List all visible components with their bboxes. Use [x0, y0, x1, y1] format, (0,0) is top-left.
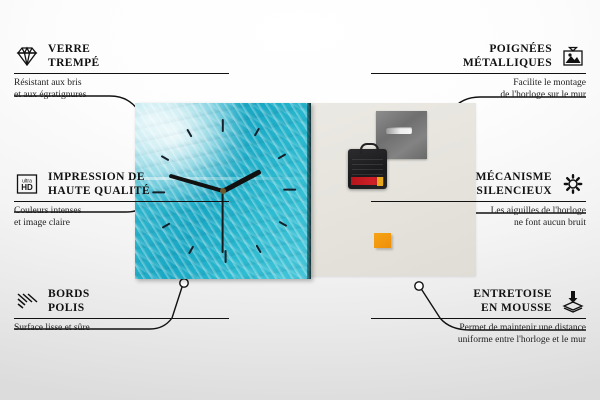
- svg-text:HD: HD: [21, 183, 33, 192]
- foam-spacer: [374, 233, 391, 248]
- diamond-icon: [14, 44, 40, 68]
- feature-head: POIGNÉESMÉTALLIQUES: [371, 42, 586, 71]
- foam-spacer-icon: [560, 289, 586, 313]
- feature-rule: [14, 318, 229, 319]
- feature-title: ENTRETOISEEN MOUSSE: [473, 287, 552, 316]
- feature-subtitle: Facilite le montagede l'horloge sur le m…: [371, 77, 586, 102]
- feature-head: ENTRETOISEEN MOUSSE: [371, 287, 586, 316]
- feature-head: MÉCANISMESILENCIEUX: [371, 170, 586, 199]
- feature-head: ultra HD IMPRESSION DEHAUTE QUALITÉ: [14, 170, 229, 199]
- feature-rule: [371, 318, 586, 319]
- hanger-slot: [386, 127, 412, 134]
- feature-subtitle: Permet de maintenir une distanceuniforme…: [371, 322, 586, 347]
- polished-edges-icon: [14, 289, 40, 313]
- feature-poignees-metalliques: POIGNÉESMÉTALLIQUES Facilite le montaged…: [371, 42, 586, 101]
- feature-rule: [371, 73, 586, 74]
- feature-head: BORDSPOLIS: [14, 287, 229, 316]
- feature-subtitle: Les aiguilles de l'horlogene font aucun …: [371, 205, 586, 230]
- feature-title: VERRETREMPÉ: [48, 42, 100, 71]
- feature-rule: [14, 73, 229, 74]
- feature-title: IMPRESSION DEHAUTE QUALITÉ: [48, 170, 150, 199]
- feature-title: POIGNÉESMÉTALLIQUES: [463, 42, 552, 71]
- feature-rule: [14, 201, 229, 202]
- ultra-hd-icon: ultra HD: [14, 172, 40, 196]
- feature-impression-haute-qualite: ultra HD IMPRESSION DEHAUTE QUALITÉ Coul…: [14, 170, 229, 229]
- mechanism-hook: [360, 143, 379, 154]
- feature-head: VERRETREMPÉ: [14, 42, 229, 71]
- feature-mecanisme-silencieux: MÉCANISMESILENCIEUX Les aiguilles de l'h…: [371, 170, 586, 229]
- feature-subtitle: Surface lisse et sûre: [14, 322, 229, 334]
- picture-hanger-icon: [560, 44, 586, 68]
- feature-bords-polis: BORDSPOLIS Surface lisse et sûre: [14, 287, 229, 334]
- feature-verre-trempe: VERRETREMPÉ Résistant aux briset aux égr…: [14, 42, 229, 101]
- feature-entretoise-en-mousse: ENTRETOISEEN MOUSSE Permet de maintenir …: [371, 287, 586, 346]
- feature-subtitle: Couleurs intenseset image claire: [14, 205, 229, 230]
- feature-title: MÉCANISMESILENCIEUX: [476, 170, 552, 199]
- glass-edge: [307, 103, 311, 279]
- gear-icon: [560, 172, 586, 196]
- feature-title: BORDSPOLIS: [48, 287, 90, 316]
- feature-subtitle: Résistant aux briset aux égratignures: [14, 77, 229, 102]
- infographic-canvas: VERRETREMPÉ Résistant aux briset aux égr…: [0, 0, 600, 400]
- connector-dot-bords-polis: [180, 279, 188, 287]
- feature-rule: [371, 201, 586, 202]
